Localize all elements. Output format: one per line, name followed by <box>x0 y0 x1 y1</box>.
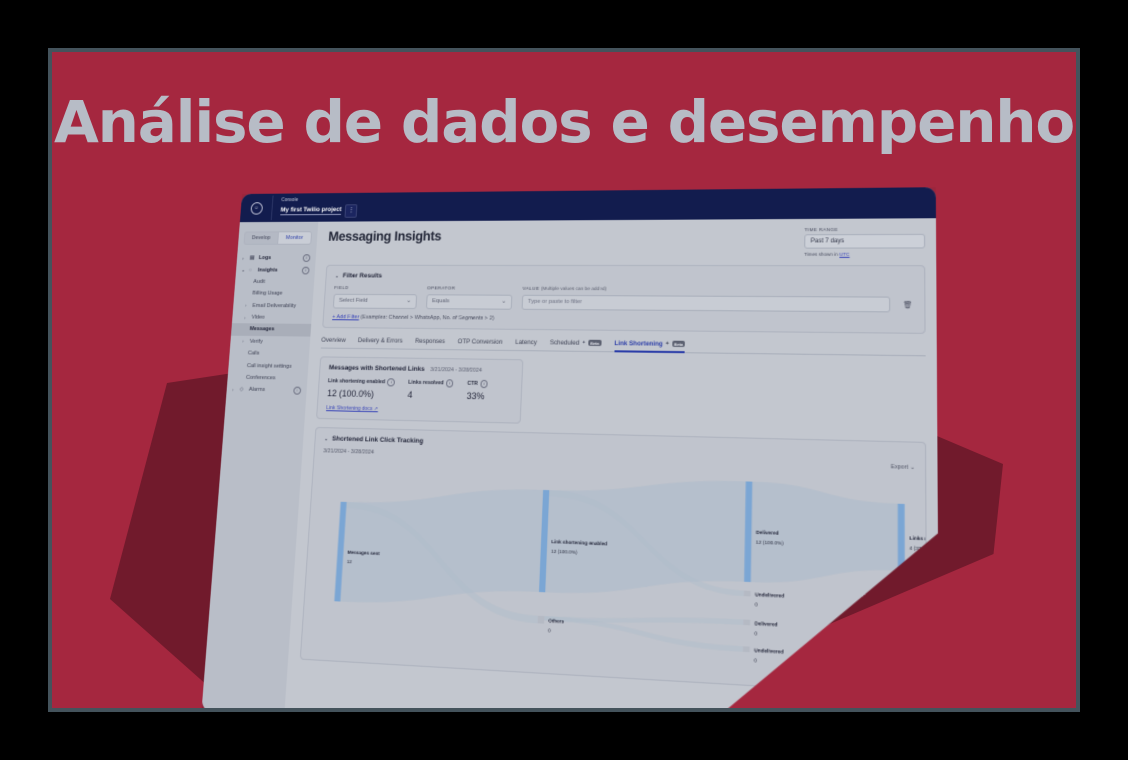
sankey-node-undelivered-1[interactable] <box>744 591 751 597</box>
field-select-value: Select Field <box>339 298 368 304</box>
sankey-node-label: Links resolved <box>909 535 926 542</box>
sidebar-item-email-deliverability[interactable]: ›Email Deliverability <box>233 300 313 312</box>
timezone-note: Times shown in UTC <box>804 252 925 257</box>
metric-label-row: Links resolvedi <box>408 379 454 387</box>
sparkle-icon: ✦ <box>665 341 669 347</box>
sidebar-item-label: Call insight settings <box>247 363 292 370</box>
filter-results-title: Filter Results <box>342 273 382 280</box>
bell-icon: ◇ <box>239 387 246 393</box>
sparkle-icon: ✦ <box>582 340 586 346</box>
sankey-node-label: Delivered <box>756 530 779 536</box>
sidebar-item-verify[interactable]: ›Verify <box>230 335 310 348</box>
sankey-node-undelivered-2[interactable] <box>743 646 750 652</box>
content-header: Messaging Insights TIME RANGE Past 7 day… <box>327 227 925 258</box>
timezone-link[interactable]: UTC <box>839 252 849 257</box>
tab-scheduled[interactable]: Scheduled✦Beta <box>550 339 601 347</box>
add-filter-row: + Add Filter (Examples: Channel > WhatsA… <box>332 314 914 325</box>
tab-label: Overview <box>321 336 346 343</box>
main-content: Messaging Insights TIME RANGE Past 7 day… <box>284 218 939 708</box>
sankey-node-others[interactable] <box>538 616 545 624</box>
sidebar-item-label: Audit <box>253 279 265 285</box>
develop-monitor-segment[interactable]: Develop Monitor <box>244 231 313 245</box>
value-caption: VALUE (Multiple values can be added) <box>522 287 890 294</box>
sidebar-item-billing-usage[interactable]: Billing Usage <box>234 288 314 300</box>
sidebar-item-label: Calls <box>248 351 260 357</box>
chevron-down-icon[interactable]: ⌄ <box>335 273 339 279</box>
export-dropdown[interactable]: Export ⌄ <box>891 464 915 471</box>
sankey-link <box>340 484 543 612</box>
tab-label: Delivery & Errors <box>358 337 403 344</box>
value-caption-note: (Multiple values can be added) <box>541 287 607 292</box>
page-title: Análise de dados e desempenho <box>52 88 1076 156</box>
chevron-right-icon[interactable]: › <box>242 339 247 344</box>
tab-develop[interactable]: Develop <box>244 231 278 244</box>
sidebar-item-label: Billing Usage <box>252 291 282 297</box>
field-select[interactable]: Select Field ⌄ <box>333 293 417 308</box>
time-range-control: TIME RANGE Past 7 days Times shown in UT… <box>804 227 925 257</box>
console-screenshot-wrapper: ☺ Console My first Twilio project ⋮ <box>202 187 940 708</box>
metric-value: 33% <box>466 391 487 402</box>
shortened-link-click-tracking-card: ⌄ Shortened Link Click Tracking 3/21/202… <box>300 427 928 697</box>
add-filter-link[interactable]: + Add Filter <box>332 314 359 320</box>
sankey-node-delivered-2[interactable] <box>743 620 750 626</box>
sidebar-item-audit[interactable]: Audit <box>235 276 315 288</box>
project-name[interactable]: My first Twilio project <box>280 206 342 215</box>
time-range-select[interactable]: Past 7 days <box>804 234 925 249</box>
metric-value: 4 <box>407 390 453 401</box>
metric-label-row: Link shortening enabledi <box>328 377 395 386</box>
stats-metric-list: Link shortening enabledi12 (100.0%)Links… <box>327 377 513 402</box>
tracking-card-title: Shortened Link Click Tracking <box>332 435 424 444</box>
stats-card-date-range: 3/21/2024 - 3/28/2024 <box>430 367 482 374</box>
stats-card-header: Messages with Shortened Links 3/21/2024 … <box>329 364 513 374</box>
info-icon[interactable]: i <box>293 387 301 395</box>
console-body: Develop Monitor ›▤Logsi⌄◌InsightsiAuditB… <box>202 218 940 708</box>
tracking-date-range: 3/21/2024 - 3/28/2024 <box>323 448 374 455</box>
sidebar-item-messages[interactable]: Messages <box>231 323 311 336</box>
sankey-node-value: 12 <box>347 559 353 565</box>
tab-label: Latency <box>515 338 537 345</box>
add-filter-hint: (Examples: Channel > WhatsApp, No. of Se… <box>360 314 494 321</box>
metric-value: 12 (100.0%) <box>327 388 395 399</box>
messages-with-shortened-links-card: Messages with Shortened Links 3/21/2024 … <box>316 356 523 423</box>
console-label: Console <box>281 197 358 204</box>
sidebar-item-label: Logs <box>259 255 272 261</box>
time-range-caption: TIME RANGE <box>804 227 925 233</box>
chevron-right-icon[interactable]: › <box>245 303 250 308</box>
kebab-menu-icon[interactable]: ⋮ <box>345 204 358 217</box>
sankey-node-label: Delivered <box>755 621 778 628</box>
tab-otp-conversion[interactable]: OTP Conversion <box>458 338 503 346</box>
chevron-down-icon: ⌄ <box>406 298 411 304</box>
docs-link-text: Link Shortening docs <box>326 405 373 412</box>
metric-label-row: CTRi <box>467 380 488 388</box>
chevron-right-icon[interactable]: › <box>244 315 249 320</box>
value-caption-text: VALUE <box>522 287 539 292</box>
operator-caption: OPERATOR <box>427 286 513 291</box>
tab-latency[interactable]: Latency <box>515 338 537 345</box>
slide-canvas: Análise de dados e desempenho ☺ Console … <box>52 52 1076 708</box>
sidebar-item-label: Insights <box>258 267 278 273</box>
chevron-right-icon[interactable]: › <box>242 256 247 261</box>
filter-row: FIELD Select Field ⌄ OPERATOR E <box>333 286 915 312</box>
beta-badge: Beta <box>672 341 685 347</box>
tab-delivery-errors[interactable]: Delivery & Errors <box>358 337 403 344</box>
field-column: FIELD Select Field ⌄ <box>333 286 418 308</box>
metric-label: Links resolved <box>408 379 444 386</box>
sankey-node-value: 0 <box>754 631 757 637</box>
sidebar-item-logs[interactable]: ›▤Logsi <box>237 252 317 264</box>
sidebar-item-insights[interactable]: ⌄◌Insightsi <box>236 264 316 276</box>
sidebar-item-label: Video <box>251 315 264 321</box>
info-icon[interactable]: i <box>480 380 488 388</box>
sankey-node-label: Others <box>548 618 564 624</box>
sankey-node-value: 0 <box>548 628 551 634</box>
book-icon: ▤ <box>250 255 257 261</box>
chevron-down-icon[interactable]: ⌄ <box>241 267 246 273</box>
link-shortening-docs-link[interactable]: Link Shortening docs ↗ <box>326 405 511 415</box>
metric-label: Link shortening enabled <box>328 378 385 385</box>
filter-results-card: ⌄ Filter Results FIELD Select Field ⌄ <box>322 265 925 334</box>
metric-link-shortening-enabled: Link shortening enabledi12 (100.0%) <box>327 377 395 399</box>
sidebar-item-label: Messages <box>250 327 275 333</box>
filter-results-header[interactable]: ⌄ Filter Results <box>335 273 915 281</box>
tab-responses[interactable]: Responses <box>415 337 445 344</box>
sidebar-item-label: Verify <box>250 339 263 345</box>
sidebar-item-label: Email Deliverability <box>252 303 296 309</box>
tab-label: Responses <box>415 337 445 344</box>
operator-column: OPERATOR Equals ⌄ <box>426 286 513 309</box>
info-icon[interactable]: i <box>446 379 454 387</box>
sankey-node-value: 0 <box>754 658 758 664</box>
sidebar-item-label: Conferences <box>246 375 276 381</box>
tab-label: Scheduled <box>550 339 580 346</box>
timezone-note-text: Times shown in <box>804 252 839 257</box>
value-input[interactable]: Type or paste to filter <box>522 294 891 312</box>
sankey-node-value: 12 (100.0%) <box>551 549 578 556</box>
sankey-node-label: Undelivered <box>754 647 784 654</box>
chevron-down-icon: ⌄ <box>501 299 506 305</box>
sidebar-item-alarms[interactable]: ›◇Alarmsi <box>226 384 307 398</box>
chevron-down-icon[interactable]: ⌄ <box>324 436 328 442</box>
sankey-node-links-resolved[interactable] <box>898 504 905 571</box>
project-selector[interactable]: Console My first Twilio project ⋮ <box>272 197 358 218</box>
console-topbar: ☺ Console My first Twilio project ⋮ <box>240 187 936 222</box>
export-label: Export <box>891 464 908 471</box>
sidebar-item-label: Alarms <box>249 387 266 393</box>
bulb-icon: ◌ <box>249 267 256 273</box>
metric-ctr: CTRi33% <box>466 380 488 402</box>
twilio-console-screenshot: ☺ Console My first Twilio project ⋮ <box>202 187 940 708</box>
sankey-node-value: 12 (100.0%) <box>756 539 784 546</box>
tab-overview[interactable]: Overview <box>321 336 346 343</box>
tab-link-shortening[interactable]: Link Shortening✦Beta <box>614 340 685 348</box>
sankey-node-value: 0 <box>755 602 758 608</box>
sidebar-nav-list: ›▤Logsi⌄◌InsightsiAuditBilling Usage›Ema… <box>226 252 316 397</box>
beta-badge: Beta <box>588 340 601 346</box>
tab-label: OTP Conversion <box>458 338 503 346</box>
metric-label: CTR <box>467 380 478 386</box>
info-icon[interactable]: i <box>387 378 395 386</box>
sidebar-item-video[interactable]: ›Video <box>232 311 312 324</box>
chevron-right-icon[interactable]: › <box>232 387 237 392</box>
field-caption: FIELD <box>334 286 418 291</box>
tab-monitor[interactable]: Monitor <box>277 231 312 244</box>
info-icon[interactable]: i <box>303 254 311 262</box>
sankey-diagram: Messages sent12Link shortening enabled12… <box>302 462 927 684</box>
tab-label: Link Shortening <box>614 340 663 348</box>
slide-stage: Análise de dados e desempenho ☺ Console … <box>0 0 1128 760</box>
operator-select[interactable]: Equals ⌄ <box>426 294 512 309</box>
stats-card-title: Messages with Shortened Links <box>329 364 425 372</box>
sankey-node-label: Undelivered <box>755 592 785 599</box>
insights-tabs: OverviewDelivery & ErrorsResponsesOTP Co… <box>321 336 926 356</box>
metric-links-resolved: Links resolvedi4 <box>407 379 453 401</box>
value-column: VALUE (Multiple values can be added) Typ… <box>522 287 891 312</box>
operator-select-value: Equals <box>432 298 449 304</box>
messaging-insights-title: Messaging Insights <box>328 229 442 244</box>
info-icon[interactable]: i <box>302 266 310 274</box>
twilio-logo-icon[interactable]: ☺ <box>241 202 273 214</box>
trash-icon[interactable]: 🗑 <box>901 300 914 312</box>
